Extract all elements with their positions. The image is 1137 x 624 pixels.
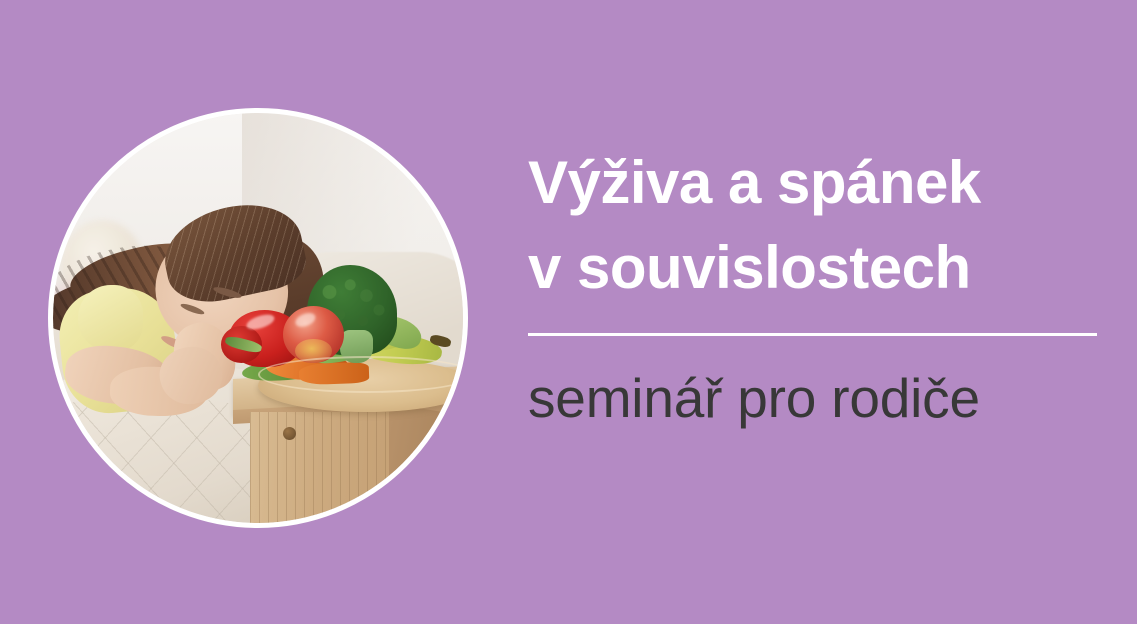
plate-rim — [258, 356, 463, 393]
title-divider — [528, 333, 1097, 336]
circular-photo — [48, 108, 468, 528]
banner-title: Výživa a spánek v souvislostech — [528, 140, 1100, 310]
shirt-sleeve — [78, 285, 144, 351]
photo-inner — [53, 113, 463, 523]
nightstand-knob — [283, 427, 296, 440]
nightstand-side — [389, 404, 446, 520]
banner-subtitle: seminář pro rodiče — [528, 368, 1100, 429]
seminar-banner: Výživa a spánek v souvislostech seminář … — [0, 0, 1137, 624]
text-block: Výživa a spánek v souvislostech seminář … — [528, 140, 1100, 429]
